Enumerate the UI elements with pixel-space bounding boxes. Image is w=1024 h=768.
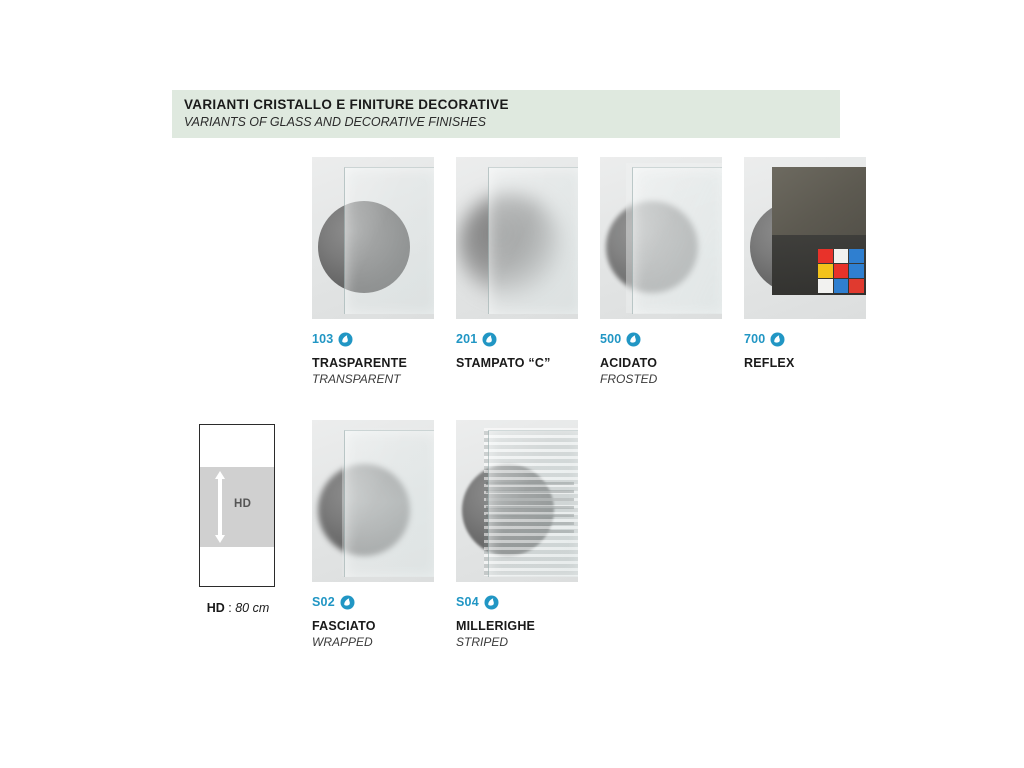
finish-name-it: TRASPARENTE xyxy=(312,356,434,370)
hd-double-arrow-icon xyxy=(214,471,226,543)
finish-code: S02 xyxy=(312,595,335,609)
glass-pane xyxy=(488,167,578,314)
finish-name-it: ACIDATO xyxy=(600,356,722,370)
color-square xyxy=(834,249,849,263)
finish-card-s02[interactable]: S02 FASCIATO WRAPPED xyxy=(312,420,434,649)
code-line: S04 xyxy=(456,594,578,610)
finish-row-1: 103 TRASPARENTE TRANSPARENT xyxy=(312,157,866,386)
glass-drop-icon xyxy=(340,595,355,610)
finish-image-s02 xyxy=(312,420,434,582)
glass-drop-icon xyxy=(770,332,785,347)
glass-pane xyxy=(344,430,434,577)
color-square xyxy=(834,279,849,293)
color-square xyxy=(849,264,864,278)
finish-code: 500 xyxy=(600,332,621,346)
color-square xyxy=(834,264,849,278)
finish-name-en: STRIPED xyxy=(456,635,578,649)
finish-row-2: S02 FASCIATO WRAPPED xyxy=(312,420,578,649)
finish-name-it: STAMPATO “C” xyxy=(456,356,578,370)
code-line: 201 xyxy=(456,331,578,347)
color-checker-grid xyxy=(818,249,864,293)
hd-caption-sep: : xyxy=(225,601,235,615)
finish-name-it: MILLERIGHE xyxy=(456,619,578,633)
glass-drop-icon xyxy=(484,595,499,610)
finish-card-s04[interactable]: S04 MILLERIGHE STRIPED xyxy=(456,420,578,649)
color-square xyxy=(818,264,833,278)
hd-diagram: HD HD : 80 cm xyxy=(199,424,277,615)
finish-name-en: WRAPPED xyxy=(312,635,434,649)
section-header-band: VARIANTI CRISTALLO E FINITURE DECORATIVE… xyxy=(172,90,840,138)
finish-image-201 xyxy=(456,157,578,319)
finish-image-s04 xyxy=(456,420,578,582)
finish-caption-s02: S02 FASCIATO WRAPPED xyxy=(312,594,434,649)
finish-code: S04 xyxy=(456,595,479,609)
finish-code: 103 xyxy=(312,332,333,346)
page-root: VARIANTI CRISTALLO E FINITURE DECORATIVE… xyxy=(0,0,1024,768)
finish-card-700[interactable]: 700 REFLEX xyxy=(744,157,866,372)
code-line: 500 xyxy=(600,331,722,347)
glass-pane xyxy=(344,167,434,314)
hd-caption-key: HD xyxy=(207,601,225,615)
finish-name-it: REFLEX xyxy=(744,356,866,370)
glass-drop-icon xyxy=(626,332,641,347)
section-title-it: VARIANTI CRISTALLO E FINITURE DECORATIVE xyxy=(184,97,840,114)
finish-caption-700: 700 REFLEX xyxy=(744,331,866,370)
finish-caption-s04: S04 MILLERIGHE STRIPED xyxy=(456,594,578,649)
finish-caption-201: 201 STAMPATO “C” xyxy=(456,331,578,370)
finish-name-en: TRANSPARENT xyxy=(312,372,434,386)
finish-image-103 xyxy=(312,157,434,319)
finish-code: 700 xyxy=(744,332,765,346)
glass-pane xyxy=(488,430,578,577)
hd-caption: HD : 80 cm xyxy=(199,601,277,615)
glass-drop-icon xyxy=(482,332,497,347)
glass-pane xyxy=(632,167,722,314)
finish-image-700 xyxy=(744,157,866,319)
code-line: S02 xyxy=(312,594,434,610)
code-line: 103 xyxy=(312,331,434,347)
color-square xyxy=(818,249,833,263)
hd-inner-label: HD xyxy=(234,498,251,510)
color-square xyxy=(818,279,833,293)
section-title-en: VARIANTS OF GLASS AND DECORATIVE FINISHE… xyxy=(184,115,840,131)
finish-code: 201 xyxy=(456,332,477,346)
finish-card-500[interactable]: 500 ACIDATO FROSTED xyxy=(600,157,722,386)
finish-card-103[interactable]: 103 TRASPARENTE TRANSPARENT xyxy=(312,157,434,386)
color-square xyxy=(849,249,864,263)
finish-name-en: FROSTED xyxy=(600,372,722,386)
hd-panel-outline: HD xyxy=(199,424,275,587)
hd-caption-value: 80 cm xyxy=(235,601,269,615)
color-square xyxy=(849,279,864,293)
code-line: 700 xyxy=(744,331,866,347)
finish-image-500 xyxy=(600,157,722,319)
glass-drop-icon xyxy=(338,332,353,347)
finish-name-it: FASCIATO xyxy=(312,619,434,633)
finish-card-201[interactable]: 201 STAMPATO “C” xyxy=(456,157,578,372)
finish-caption-500: 500 ACIDATO FROSTED xyxy=(600,331,722,386)
finish-caption-103: 103 TRASPARENTE TRANSPARENT xyxy=(312,331,434,386)
